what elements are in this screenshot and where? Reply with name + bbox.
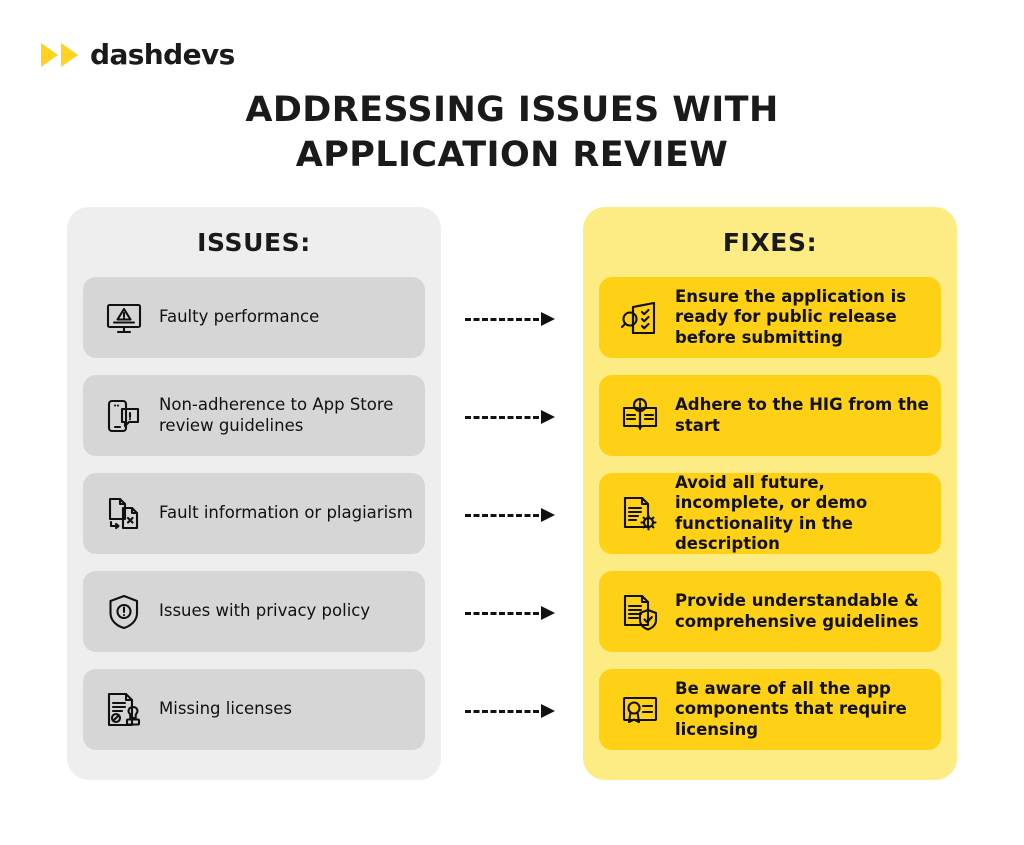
- issue-label: Fault information or plagiarism: [159, 503, 413, 523]
- document-stamp-icon: [98, 687, 150, 733]
- fix-card-ensure-ready[interactable]: Ensure the application is ready for publ…: [599, 277, 941, 358]
- connector-arrow-1: [465, 312, 561, 326]
- document-shield-check-icon: [614, 589, 666, 635]
- issue-label: Faulty performance: [159, 307, 319, 327]
- fix-label: Provide understandable & comprehensive g…: [675, 591, 931, 631]
- page-title: ADDRESSING ISSUES WITH APPLICATION REVIE…: [0, 88, 1024, 178]
- issue-card-missing-licenses[interactable]: Missing licenses: [83, 669, 425, 750]
- shield-exclamation-icon: [98, 589, 150, 635]
- fix-label: Adhere to the HIG from the start: [675, 395, 931, 435]
- issues-card-list: Faulty performance Non-adherence to App …: [67, 277, 441, 750]
- phone-alert-icon: [98, 393, 150, 439]
- fix-card-avoid-demo[interactable]: Avoid all future, incomplete, or demo fu…: [599, 473, 941, 554]
- brand-name: dashdevs: [90, 38, 235, 71]
- issue-card-plagiarism[interactable]: Fault information or plagiarism: [83, 473, 425, 554]
- issue-card-privacy-policy[interactable]: Issues with privacy policy: [83, 571, 425, 652]
- play-triangles-icon: [41, 43, 78, 67]
- book-info-icon: [614, 393, 666, 439]
- issues-heading: ISSUES:: [67, 207, 441, 257]
- issue-label: Missing licenses: [159, 699, 292, 719]
- fix-card-adhere-hig[interactable]: Adhere to the HIG from the start: [599, 375, 941, 456]
- fix-label: Avoid all future, incomplete, or demo fu…: [675, 473, 931, 554]
- certificate-seal-icon: [614, 687, 666, 733]
- connector-arrow-5: [465, 704, 561, 718]
- fix-card-provide-guidelines[interactable]: Provide understandable & comprehensive g…: [599, 571, 941, 652]
- monitor-warning-icon: [98, 295, 150, 341]
- fixes-card-list: Ensure the application is ready for publ…: [583, 277, 957, 750]
- issue-card-faulty-performance[interactable]: Faulty performance: [83, 277, 425, 358]
- connector-arrows: [455, 207, 583, 780]
- documents-x-icon: [98, 491, 150, 537]
- fix-card-licensing-components[interactable]: Be aware of all the app components that …: [599, 669, 941, 750]
- brand-logo: dashdevs: [41, 38, 235, 71]
- fix-label: Be aware of all the app components that …: [675, 679, 931, 739]
- fixes-panel: FIXES: Ensure the application is ready f…: [583, 207, 957, 780]
- connector-arrow-3: [465, 508, 561, 522]
- fixes-heading: FIXES:: [583, 207, 957, 257]
- connector-arrow-2: [465, 410, 561, 424]
- page-title-line-2: APPLICATION REVIEW: [0, 133, 1024, 178]
- infographic-page: dashdevs ADDRESSING ISSUES WITH APPLICAT…: [0, 0, 1024, 845]
- issues-panel: ISSUES: Faulty performance: [67, 207, 441, 780]
- issue-card-non-adherence[interactable]: Non-adherence to App Store review guidel…: [83, 375, 425, 456]
- document-gear-icon: [614, 491, 666, 537]
- checklist-magnifier-icon: [614, 295, 666, 341]
- connector-arrow-4: [465, 606, 561, 620]
- issue-label: Non-adherence to App Store review guidel…: [159, 395, 415, 435]
- page-title-line-1: ADDRESSING ISSUES WITH: [245, 90, 778, 130]
- fix-label: Ensure the application is ready for publ…: [675, 287, 931, 347]
- issue-label: Issues with privacy policy: [159, 601, 370, 621]
